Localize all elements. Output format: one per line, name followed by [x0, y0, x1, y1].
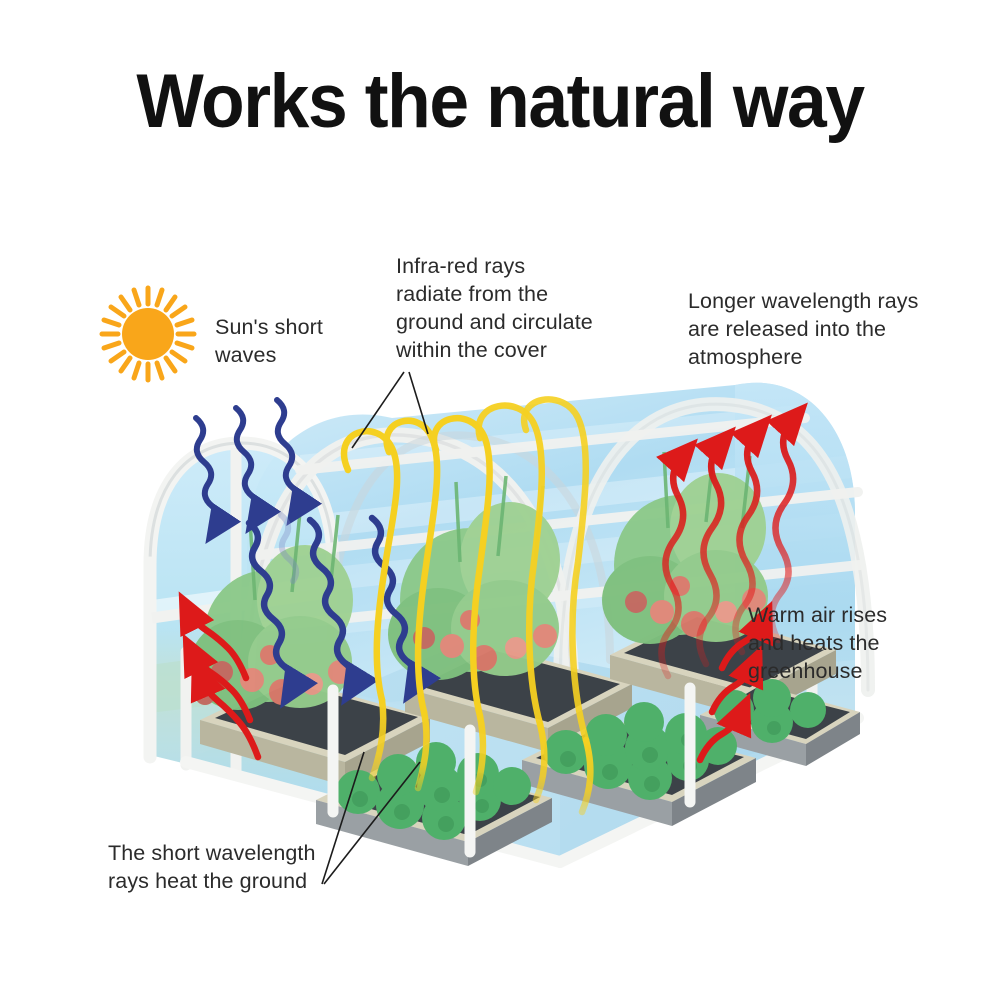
sun-disc [122, 308, 174, 360]
callout-short-wavelength: The short wavelength rays heat the groun… [108, 840, 368, 896]
callout-longer-wavelength: Longer wavelength rays are released into… [688, 288, 938, 372]
callout-sun-short-waves: Sun's short waves [215, 314, 395, 370]
sun-icon [102, 288, 194, 380]
infographic-canvas: Works the natural way [0, 0, 1000, 1000]
callout-infrared-rays: Infra-red rays radiate from the ground a… [396, 253, 626, 365]
callout-warm-air: Warm air rises and heats the greenhouse [748, 602, 948, 686]
